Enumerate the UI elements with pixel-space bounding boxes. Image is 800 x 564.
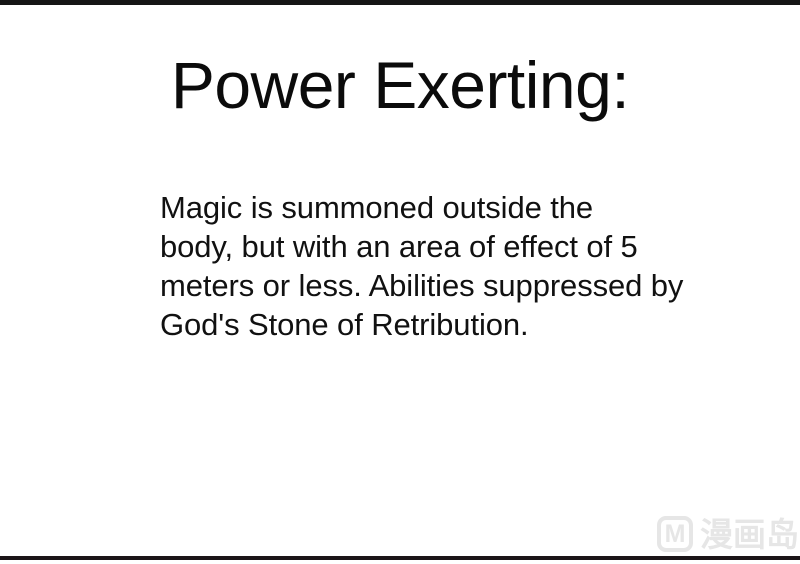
slide-canvas: Power Exerting: Magic is summoned outsid… [0, 0, 800, 564]
body-text-line: God's Stone of Retribution. [160, 305, 680, 344]
body-text-block: Magic is summoned outside the body, but … [160, 188, 680, 344]
page-edge-bar-top [0, 0, 800, 5]
watermark: M 漫画岛 [657, 516, 799, 552]
body-text-line: body, but with an area of effect of 5 [160, 227, 680, 266]
body-text-line: Magic is summoned outside the [160, 188, 680, 227]
body-text-line: meters or less. Abilities suppressed by [160, 266, 680, 305]
page-title: Power Exerting: [0, 52, 800, 118]
watermark-label: 漫画岛 [700, 518, 799, 551]
watermark-logo-icon: M [657, 516, 693, 552]
page-edge-bar-bottom [0, 556, 800, 560]
